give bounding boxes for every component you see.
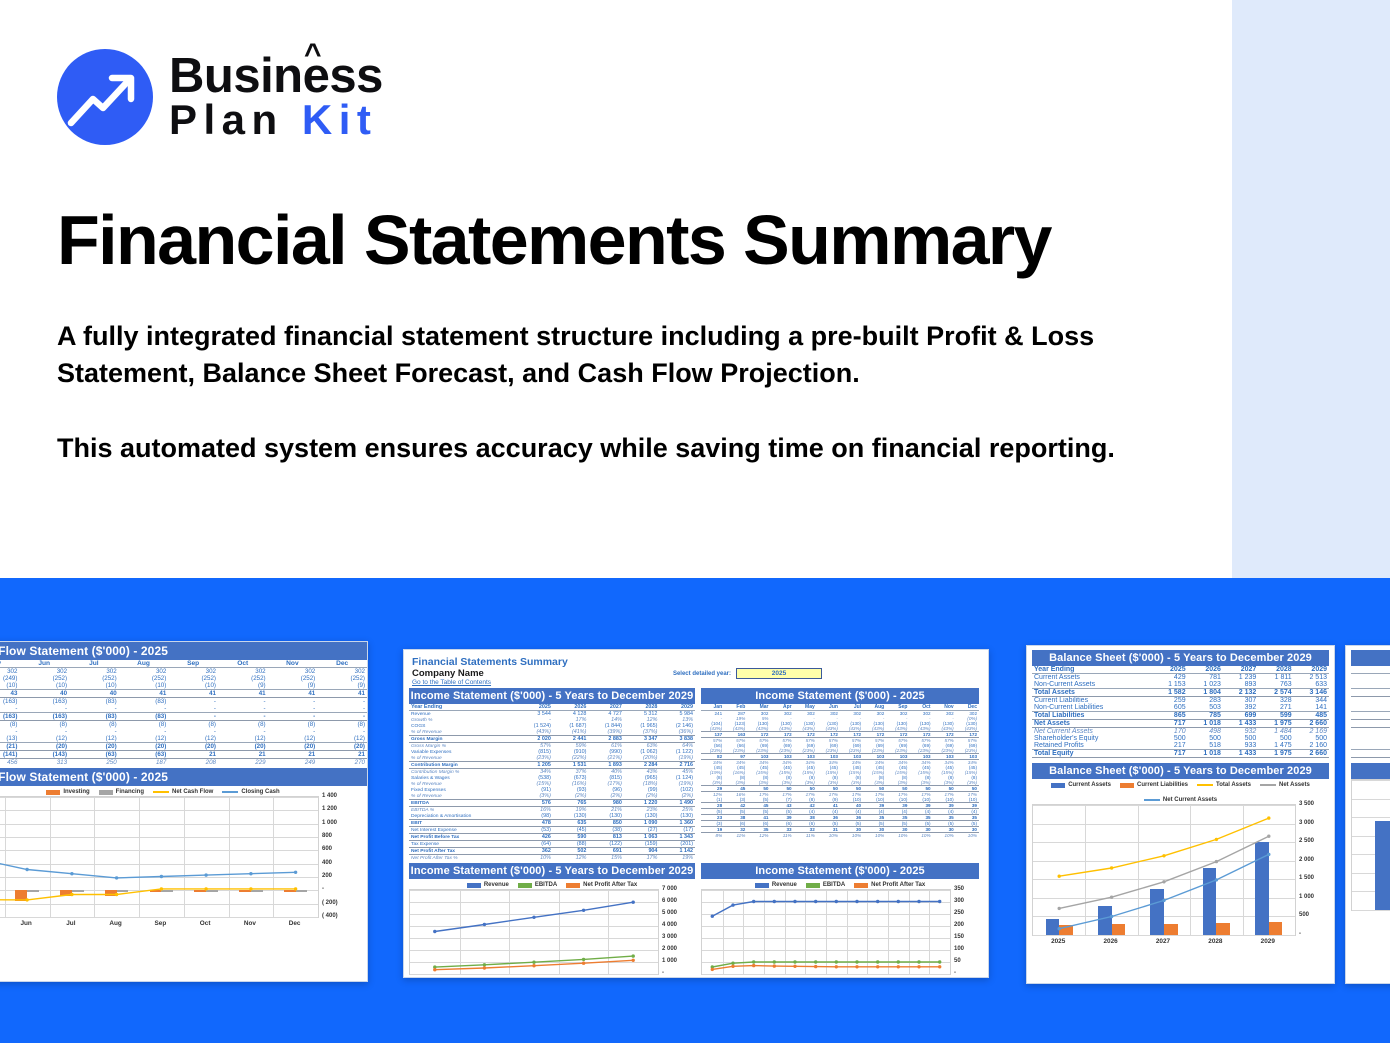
table-row: 692 xyxy=(1351,704,1390,712)
table-cell: (63) xyxy=(119,751,169,759)
table-cell: 1 142 xyxy=(659,848,695,855)
table-row: (13)(12)(12)(12)(12)(12)(12)(12) xyxy=(0,735,367,743)
brand-name-line2: Plan Kit xyxy=(169,100,383,140)
chart-x-tick-label: Aug xyxy=(93,920,138,927)
table-row: Net Assets7171 0181 4331 9752 660 xyxy=(1032,720,1329,728)
table-cell: (10) xyxy=(168,682,218,690)
legend-swatch xyxy=(46,790,60,795)
chart-y-tick-label: ( 400) xyxy=(322,913,338,919)
table-cell: (88) xyxy=(553,841,589,848)
chart-y-tick-label: 200 xyxy=(954,922,964,928)
table-cell: - xyxy=(69,705,119,713)
table-cell: 1 582 xyxy=(1152,689,1187,697)
table-cell: 283 xyxy=(1188,697,1223,705)
chart-x-tick-label: 2028 xyxy=(558,977,608,978)
table-cell: (122) xyxy=(588,841,624,848)
legend-item: EBITDA xyxy=(518,882,557,888)
table-cell: 2 574 xyxy=(1258,689,1293,697)
legend-item: EBITDA xyxy=(806,882,845,888)
table-cell: Total Equity xyxy=(1032,750,1152,758)
table-cell: 1 174 xyxy=(1351,674,1390,682)
table-cell: - xyxy=(268,713,318,721)
legend-swatch xyxy=(806,883,820,888)
table-cell: 1 804 xyxy=(1188,689,1223,697)
chart-y-tick-label: 7 000 xyxy=(662,886,677,892)
table-cell: (10) xyxy=(19,682,69,690)
table-column-header: Jun xyxy=(19,660,69,668)
table-cell: - xyxy=(168,728,218,735)
table-cell: 11% xyxy=(770,833,793,839)
table-row: (21)(20)(20)(20)(20)(20)(20)(20) xyxy=(0,743,367,751)
table-cell: Net Profit After Tax % xyxy=(409,855,517,862)
table-cell: 932 xyxy=(1223,728,1258,736)
growth-arrow-icon xyxy=(57,49,153,145)
table-of-contents-link[interactable]: Go to the Table of Contents xyxy=(412,679,568,686)
table-cell: 10% xyxy=(886,833,909,839)
table-cell: 699 xyxy=(1223,712,1258,720)
table-cell: - xyxy=(317,713,367,721)
table-column-header: Sep xyxy=(168,660,218,668)
table-cell: 11% xyxy=(724,833,747,839)
table-row: Net Current Assets1704989321 4842 169 xyxy=(1032,728,1329,736)
chart-y-tick-label: 250 xyxy=(954,910,964,916)
annual-income-chart-legend: RevenueEBITDANet Profit After Tax xyxy=(409,879,695,889)
table-cell: 500 xyxy=(1351,735,1390,742)
table-row: Jan xyxy=(1351,666,1390,674)
chart-plot-area xyxy=(409,889,659,975)
chart-y-tick-label: 1 000 xyxy=(662,958,677,964)
chart-x-tick-label: 2026 xyxy=(1084,938,1136,945)
legend-label: Current Liabilities xyxy=(1137,782,1188,788)
table-cell: 10% xyxy=(840,833,863,839)
table-cell: 170 xyxy=(1152,728,1187,736)
clipped-table-title xyxy=(1351,650,1390,666)
table-cell: 2 284 xyxy=(624,762,660,769)
table-cell: 1 081 xyxy=(1351,728,1390,736)
chart-y-tick-label: 3 000 xyxy=(1299,820,1314,826)
monthly-income-chart: 35030025020015010050-JanFebMarAprMayJunJ… xyxy=(701,889,977,978)
chart-x-tick-label: 2027 xyxy=(508,977,558,978)
legend-item: Revenue xyxy=(755,882,797,888)
table-row: Total Assets1 5821 8042 1322 5743 146 xyxy=(1032,689,1329,697)
hero-paragraph-2: This automated system ensures accuracy w… xyxy=(57,430,1147,467)
table-cell: - xyxy=(268,705,318,713)
cashflow-chart-legend: InvestingFinancingNet Cash FlowClosing C… xyxy=(0,786,367,796)
table-cell: - xyxy=(119,728,169,735)
table-cell: 1 205 xyxy=(517,762,553,769)
table-cell: (252) xyxy=(317,675,367,682)
chart-y-tick-label: 2 000 xyxy=(1299,857,1314,863)
table-cell: (20) xyxy=(317,743,367,751)
table-cell: 11% xyxy=(794,833,817,839)
table-cell: Contribution Margin xyxy=(409,762,517,769)
chart-y-tick-label: 100 xyxy=(954,946,964,952)
table-cell: (249) xyxy=(0,675,19,682)
table-cell: EBIT xyxy=(409,820,517,827)
legend-label: Net Profit After Tax xyxy=(583,882,637,888)
clipped-chart: Jan xyxy=(1351,779,1390,925)
legend-item: Revenue xyxy=(467,882,509,888)
table-cell: 2 660 xyxy=(1294,750,1329,758)
table-row: 12 xyxy=(1351,742,1390,750)
chart-x-tick-label: Mar xyxy=(742,977,763,978)
table-cell: (9) xyxy=(218,682,268,690)
balancesheet-chart-legend: Current AssetsCurrent LiabilitiesTotal A… xyxy=(1032,779,1329,804)
chart-line-layer xyxy=(702,890,950,974)
brand-logo: Business ^ Plan Kit xyxy=(57,49,383,145)
table-row: 302302302302302302302302 xyxy=(0,668,367,676)
balancesheet-table-title: Balance Sheet ($'000) - 5 Years to Decem… xyxy=(1032,650,1329,666)
legend-label: EBITDA xyxy=(535,882,557,888)
table-cell: 717 xyxy=(1152,720,1187,728)
chart-x-tick-label: Apr xyxy=(763,977,784,978)
table-cell: (12) xyxy=(19,735,69,743)
table-cell: 10% xyxy=(863,833,886,839)
table-column-header: 2027 xyxy=(1223,666,1258,674)
legend-item: Current Assets xyxy=(1051,782,1111,788)
legend-item: Current Liabilities xyxy=(1120,782,1188,788)
table-row: Net Profit After Tax %8%11%12%11%11%10%1… xyxy=(701,833,979,839)
chart-x-tick-label: Aug xyxy=(846,977,867,978)
table-row: -------- xyxy=(0,705,367,713)
table-cell: Net Profit Before Tax xyxy=(409,834,517,841)
table-cell: (143) xyxy=(19,751,69,759)
chart-x-tick-label: Feb xyxy=(722,977,743,978)
table-cell: (252) xyxy=(218,675,268,682)
chart-x-tick-label: Jan xyxy=(701,977,722,978)
table-row: -------- xyxy=(0,728,367,735)
table-cell: 426 xyxy=(517,834,553,841)
table-cell: (21) xyxy=(0,743,19,751)
legend-swatch xyxy=(222,791,238,793)
chart-line-layer xyxy=(0,797,318,917)
table-cell: (8) xyxy=(268,721,318,729)
table-row: Net Profit After Tax3625026919041 142 xyxy=(409,848,695,855)
table-cell: (10) xyxy=(0,682,19,690)
hero-section: Business ^ Plan Kit Financial Statements… xyxy=(0,0,1390,578)
brand-name-plan: Plan xyxy=(169,96,284,143)
chart-x-tick-label: Dec xyxy=(272,920,317,927)
table-cell: 302 xyxy=(119,668,169,676)
table-row: (249)(252)(252)(252)(252)(252)(252)(252) xyxy=(0,675,367,682)
legend-swatch xyxy=(854,883,868,888)
table-cell: (64) xyxy=(517,841,553,848)
legend-item: Investing xyxy=(46,789,89,795)
table-cell: 1 811 xyxy=(1258,674,1293,682)
table-cell: EBITDA xyxy=(409,800,517,807)
table-cell: 302 xyxy=(268,668,318,676)
legend-swatch xyxy=(467,883,481,888)
table-cell: 1 433 xyxy=(1223,750,1258,758)
table-cell: (10) xyxy=(119,682,169,690)
chart-y-tick-label: - xyxy=(1299,931,1301,937)
table-cell: - xyxy=(317,728,367,735)
chart-x-tick-label: Sep xyxy=(138,920,183,927)
balancesheet-table: Year Ending20252026202720282029Current A… xyxy=(1032,666,1329,758)
table-cell: 302 xyxy=(69,668,119,676)
table-cell: 1 018 xyxy=(1188,720,1223,728)
table-cell: Retained Profits xyxy=(1032,742,1152,750)
table-cell: (10) xyxy=(69,682,119,690)
chart-gridline xyxy=(1352,910,1390,911)
table-row: 500 xyxy=(1351,735,1390,742)
table-cell: 12% xyxy=(553,855,589,862)
balancesheet-chart-title: Balance Sheet ($'000) - 5 Years to Decem… xyxy=(1032,763,1329,779)
table-cell: 250 xyxy=(69,759,119,767)
table-cell: Current Liabilities xyxy=(1032,697,1152,705)
table-cell: Net Profit After Tax xyxy=(409,848,517,855)
table-cell: 208 xyxy=(168,759,218,767)
legend-label: Net Cash Flow xyxy=(172,789,213,795)
table-cell: (13) xyxy=(0,735,19,743)
table-cell: 503 xyxy=(1188,704,1223,712)
table-row: 1 081 xyxy=(1351,728,1390,736)
chart-y-tick-label: 1 000 xyxy=(322,820,337,826)
page-title: Financial Statements Summary xyxy=(57,200,1177,280)
balancesheet-chart: 3 5003 0002 5002 0001 5001 000500-202520… xyxy=(1032,804,1330,950)
table-cell: (83) xyxy=(69,713,119,721)
table-cell: - xyxy=(119,705,169,713)
clipped-chart-title xyxy=(1351,763,1390,779)
table-cell: (20) xyxy=(69,743,119,751)
legend-item: Net Profit After Tax xyxy=(854,882,925,888)
monthly-income-chart-legend: RevenueEBITDANet Profit After Tax xyxy=(701,879,979,889)
legend-swatch xyxy=(1051,783,1065,788)
table-column-header: Jan xyxy=(1351,666,1390,674)
table-cell: 893 xyxy=(1223,681,1258,689)
table-row: (8)(8)(8)(8)(8)(8)(8)(8) xyxy=(0,721,367,729)
table-row: (141)(143)(63)(63)21212121 xyxy=(0,751,367,759)
screenshot-card-summary[interactable]: Financial Statements Summary Company Nam… xyxy=(403,649,989,978)
annual-income-chart: 7 0006 0005 0004 0003 0002 0001 000-2025… xyxy=(409,889,693,978)
table-row: Net Profit After Tax %10%12%15%17%19% xyxy=(409,855,695,862)
chart-y-tick-label: 300 xyxy=(954,898,964,904)
chart-gridline xyxy=(0,917,318,918)
table-cell: Total Liabilities xyxy=(1032,712,1152,720)
table-cell: (9) xyxy=(317,682,367,690)
table-cell: (20) xyxy=(119,743,169,751)
table-row: 512 xyxy=(1351,720,1390,728)
table-cell: 259 xyxy=(1152,697,1187,705)
legend-item: Net Current Assets xyxy=(1144,797,1217,803)
table-cell: 1 975 xyxy=(1258,720,1293,728)
table-cell: 3 347 xyxy=(624,736,660,743)
clipped-table: Jan1 1741241 297936927865121 08150012512 xyxy=(1351,666,1390,758)
table-cell: 1 239 xyxy=(1223,674,1258,682)
chart-y-tick-label: ( 200) xyxy=(322,900,338,906)
brand-name-line1: Business ^ xyxy=(169,53,383,100)
chart-plot-area xyxy=(0,796,319,918)
legend-item: Closing Cash xyxy=(222,789,279,795)
legend-swatch xyxy=(99,790,113,795)
brand-name-line1-text: Business xyxy=(169,49,383,103)
legend-label: Closing Cash xyxy=(241,789,279,795)
table-cell: 980 xyxy=(588,800,624,807)
table-cell: - xyxy=(218,705,268,713)
chart-gridline xyxy=(1033,935,1295,936)
table-cell: (141) xyxy=(0,751,19,759)
table-cell: - xyxy=(168,698,218,706)
table-cell: 500 xyxy=(1294,735,1329,742)
table-cell: (27) xyxy=(624,827,660,834)
table-cell: - xyxy=(0,728,19,735)
table-cell: 2 169 xyxy=(1294,728,1329,736)
table-column-header: Nov xyxy=(268,660,318,668)
chart-x-tick-label: Dec xyxy=(928,977,949,978)
table-cell: 249 xyxy=(268,759,318,767)
table-cell: (8) xyxy=(168,721,218,729)
table-cell: 781 xyxy=(1188,674,1223,682)
table-cell: 124 xyxy=(1351,681,1390,689)
screenshot-card-cashflow[interactable]: Cash Flow Statement ($'000) - 2025 MayJu… xyxy=(0,641,368,982)
table-cell: (8) xyxy=(19,721,69,729)
brand-name-kit: Kit xyxy=(302,96,378,143)
annual-income-table-title: Income Statement ($'000) - 5 Years to De… xyxy=(409,688,695,704)
chart-y-tick-label: 500 xyxy=(1299,912,1309,918)
table-cell: (8) xyxy=(218,721,268,729)
select-year-label: Select detailed year: xyxy=(673,671,731,677)
table-cell: (201) xyxy=(659,841,695,848)
table-cell: 271 xyxy=(1258,704,1293,712)
table-cell: (12) xyxy=(119,735,169,743)
table-cell: 1 063 xyxy=(624,834,660,841)
table-row: Current Liabilities259283307328344 xyxy=(1032,697,1329,705)
chart-y-tick-label: 350 xyxy=(954,886,964,892)
table-cell: (163) xyxy=(19,713,69,721)
table-row: 1 297 xyxy=(1351,689,1390,697)
chart-y-tick-label: 400 xyxy=(322,860,332,866)
table-cell: Gross Margin xyxy=(409,736,517,743)
legend-label: Financing xyxy=(116,789,144,795)
chart-y-tick-label: 2 500 xyxy=(1299,838,1314,844)
legend-swatch xyxy=(518,883,532,888)
table-cell: (83) xyxy=(119,698,169,706)
chart-y-tick-label: 3 000 xyxy=(662,934,677,940)
table-row: Total Liabilities865785699599485 xyxy=(1032,712,1329,720)
table-cell: 3 146 xyxy=(1294,689,1329,697)
table-row: Non-Current Liabilities605503392271141 xyxy=(1032,704,1329,712)
table-cell: (12) xyxy=(218,735,268,743)
screenshot-card-balancesheet[interactable]: Balance Sheet ($'000) - 5 Years to Decem… xyxy=(1026,645,1335,984)
table-cell: - xyxy=(218,713,268,721)
table-cell: Tax Expense xyxy=(409,841,517,848)
table-column-header: Dec xyxy=(317,660,367,668)
table-cell: 765 xyxy=(553,800,589,807)
chart-gridline xyxy=(410,974,658,975)
table-cell: (252) xyxy=(69,675,119,682)
table-column-header: 2028 xyxy=(1258,666,1293,674)
table-cell: 302 xyxy=(317,668,367,676)
table-cell: 10% xyxy=(956,833,979,839)
table-column-header: Year Ending xyxy=(1032,666,1152,674)
hero-paragraph-1: A fully integrated financial statement s… xyxy=(57,318,1147,393)
table-cell: 41 xyxy=(218,690,268,698)
table-cell: (17) xyxy=(659,827,695,834)
screenshot-card-clipped[interactable]: Jan1 1741241 297936927865121 08150012512… xyxy=(1345,645,1390,984)
table-cell: (63) xyxy=(69,751,119,759)
legend-label: Net Assets xyxy=(1279,782,1310,788)
monthly-income-table-title: Income Statement ($'000) - 2025 xyxy=(701,688,979,704)
table-column-header: Jul xyxy=(69,660,119,668)
table-row: EBITDA5767659801 2201 490 xyxy=(409,800,695,807)
chart-gridline xyxy=(702,974,950,975)
table-cell: 1 153 xyxy=(1152,681,1187,689)
chart-y-tick-label: 150 xyxy=(954,934,964,940)
table-cell: 904 xyxy=(624,848,660,855)
table-cell: 344 xyxy=(1294,697,1329,705)
table-column-header: May xyxy=(0,660,19,668)
table-cell: 141 xyxy=(1294,704,1329,712)
table-cell: 500 xyxy=(1258,735,1293,742)
table-cell: 12 xyxy=(1351,742,1390,750)
table-cell: 43 xyxy=(0,690,19,698)
table-cell: 478 xyxy=(517,820,553,827)
table-cell: 1 484 xyxy=(1258,728,1293,736)
chart-line-layer xyxy=(1352,780,1390,910)
legend-item: Net Cash Flow xyxy=(153,789,213,795)
table-cell: 785 xyxy=(1188,712,1223,720)
table-cell: 813 xyxy=(588,834,624,841)
table-cell: 270 xyxy=(317,759,367,767)
table-column-header: Oct xyxy=(218,660,268,668)
table-cell: 599 xyxy=(1258,712,1293,720)
table-row: Contribution Margin1 2051 5311 8932 2842… xyxy=(409,762,695,769)
table-cell: (163) xyxy=(0,713,19,721)
table-cell: 10% xyxy=(933,833,956,839)
table-cell: 41 xyxy=(168,690,218,698)
table-row: Non-Current Assets1 1531 023893763633 xyxy=(1032,681,1329,689)
table-cell: 41 xyxy=(119,690,169,698)
table-column-header: 2026 xyxy=(1188,666,1223,674)
table-row: 4340404141414141 xyxy=(0,690,367,698)
table-cell: Current Assets xyxy=(1032,674,1152,682)
table-cell: (20) xyxy=(268,743,318,751)
cashflow-chart-title: Cash Flow Statement ($'000) - 2025 xyxy=(0,768,367,786)
annual-income-table: Year Ending20252026202720282029Revenue3 … xyxy=(409,704,695,861)
table-cell: (83) xyxy=(69,698,119,706)
chart-x-tick-label: Oct xyxy=(183,920,228,927)
chart-x-tick-label: Jul xyxy=(49,920,94,927)
table-cell: 21 xyxy=(317,751,367,759)
table-cell: (8) xyxy=(317,721,367,729)
select-year-input[interactable]: 2025 xyxy=(736,668,822,679)
table-cell: 328 xyxy=(1258,697,1293,705)
table-row: Gross Margin2 0202 4412 8833 3473 838 xyxy=(409,736,695,743)
chart-line-layer xyxy=(410,890,658,974)
chart-y-tick-label: 1 000 xyxy=(1299,894,1314,900)
table-cell: 1 893 xyxy=(588,762,624,769)
table-cell: 786 xyxy=(1351,712,1390,720)
table-cell: 500 xyxy=(1152,735,1187,742)
table-cell: 187 xyxy=(119,759,169,767)
table-cell: 500 xyxy=(1223,735,1258,742)
table-cell: 3 838 xyxy=(659,736,695,743)
table-cell: 302 xyxy=(0,668,19,676)
table-cell: 763 xyxy=(1258,681,1293,689)
table-cell: 12% xyxy=(747,833,770,839)
chart-x-tick-label: Jun xyxy=(804,977,825,978)
table-cell: 933 xyxy=(1223,742,1258,750)
table-cell: 512 xyxy=(1351,750,1390,758)
legend-swatch xyxy=(1197,784,1213,786)
table-cell: 512 xyxy=(1351,720,1390,728)
chart-x-tick-label: 2025 xyxy=(1032,938,1084,945)
chart-y-tick-label: 1 200 xyxy=(322,806,337,812)
table-cell: (8) xyxy=(69,721,119,729)
chart-x-tick-label: Jul xyxy=(825,977,846,978)
table-cell: 485 xyxy=(1294,712,1329,720)
monthly-income-table: Year EndingJanFebMarAprMayJunJulAugSepOc… xyxy=(701,704,979,838)
